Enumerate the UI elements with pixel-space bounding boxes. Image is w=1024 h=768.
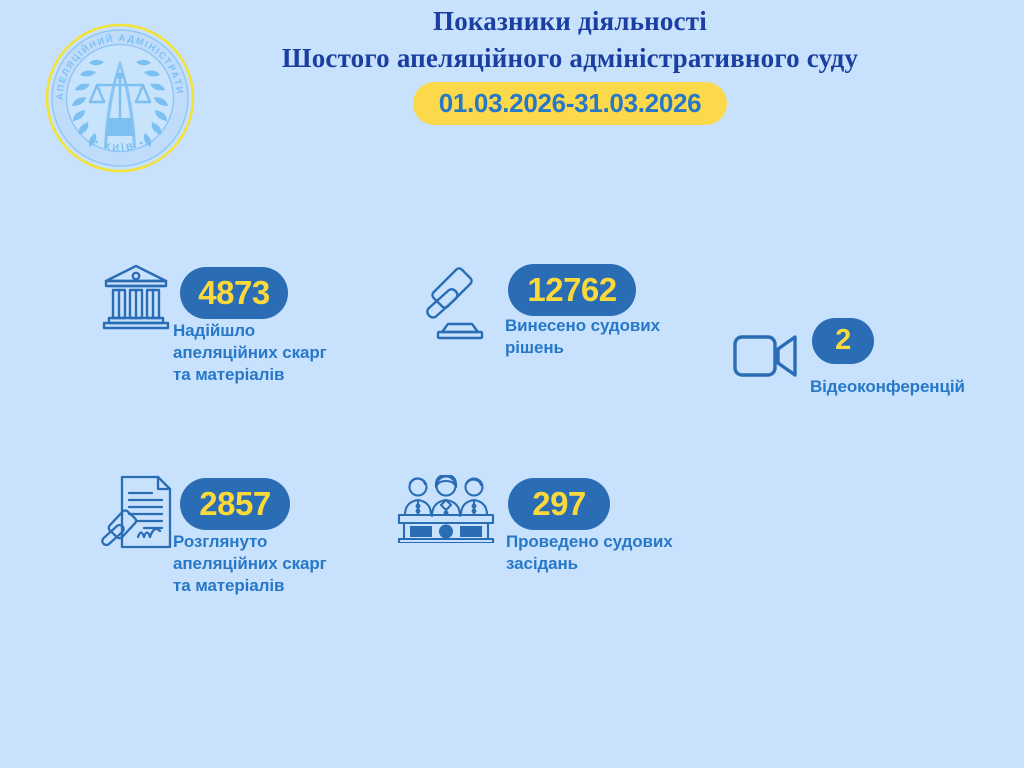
court-emblem: ШОСТИЙ АПЕЛЯЦІЙНИЙ АДМІНІСТРАТИВНИЙ СУД … — [44, 22, 196, 174]
judges-bench-icon — [396, 475, 496, 543]
gavel-icon — [420, 262, 500, 344]
stat-label: Винесено судових рішень — [505, 315, 660, 359]
video-camera-icon — [732, 330, 802, 382]
stat-videoconference: 2 Відеоконференцій — [732, 318, 1022, 408]
stat-hearings: 297 Проведено судових засідань — [396, 475, 726, 605]
stat-value-pill: 2857 — [180, 478, 290, 530]
stat-reviewed: 2857 Розглянуто апеляційних скарг та мат… — [100, 473, 400, 618]
stat-value-pill: 12762 — [508, 264, 636, 316]
stat-incoming: 4873 Надійшло апеляційних скарг та матер… — [100, 262, 400, 407]
stat-label: Розглянуто апеляційних скарг та матеріал… — [173, 531, 327, 597]
header: Показники діяльності Шостого апеляційног… — [200, 0, 940, 125]
document-gavel-icon — [100, 473, 178, 555]
stat-decisions: 12762 Винесено судових рішень — [420, 262, 720, 392]
page-title-line-2: Шостого апеляційного адміністративного с… — [200, 38, 940, 78]
stat-label: Надійшло апеляційних скарг та матеріалів — [173, 320, 327, 386]
stat-label: Проведено судових засідань — [506, 531, 673, 575]
stat-value-pill: 2 — [812, 318, 874, 364]
page-title-line-1: Показники діяльності — [200, 4, 940, 38]
stat-value-pill: 297 — [508, 478, 610, 530]
courthouse-icon — [100, 262, 172, 332]
stat-label: Відеоконференцій — [810, 376, 965, 398]
date-range-badge: 01.03.2026-31.03.2026 — [413, 82, 728, 125]
stat-value-pill: 4873 — [180, 267, 288, 319]
